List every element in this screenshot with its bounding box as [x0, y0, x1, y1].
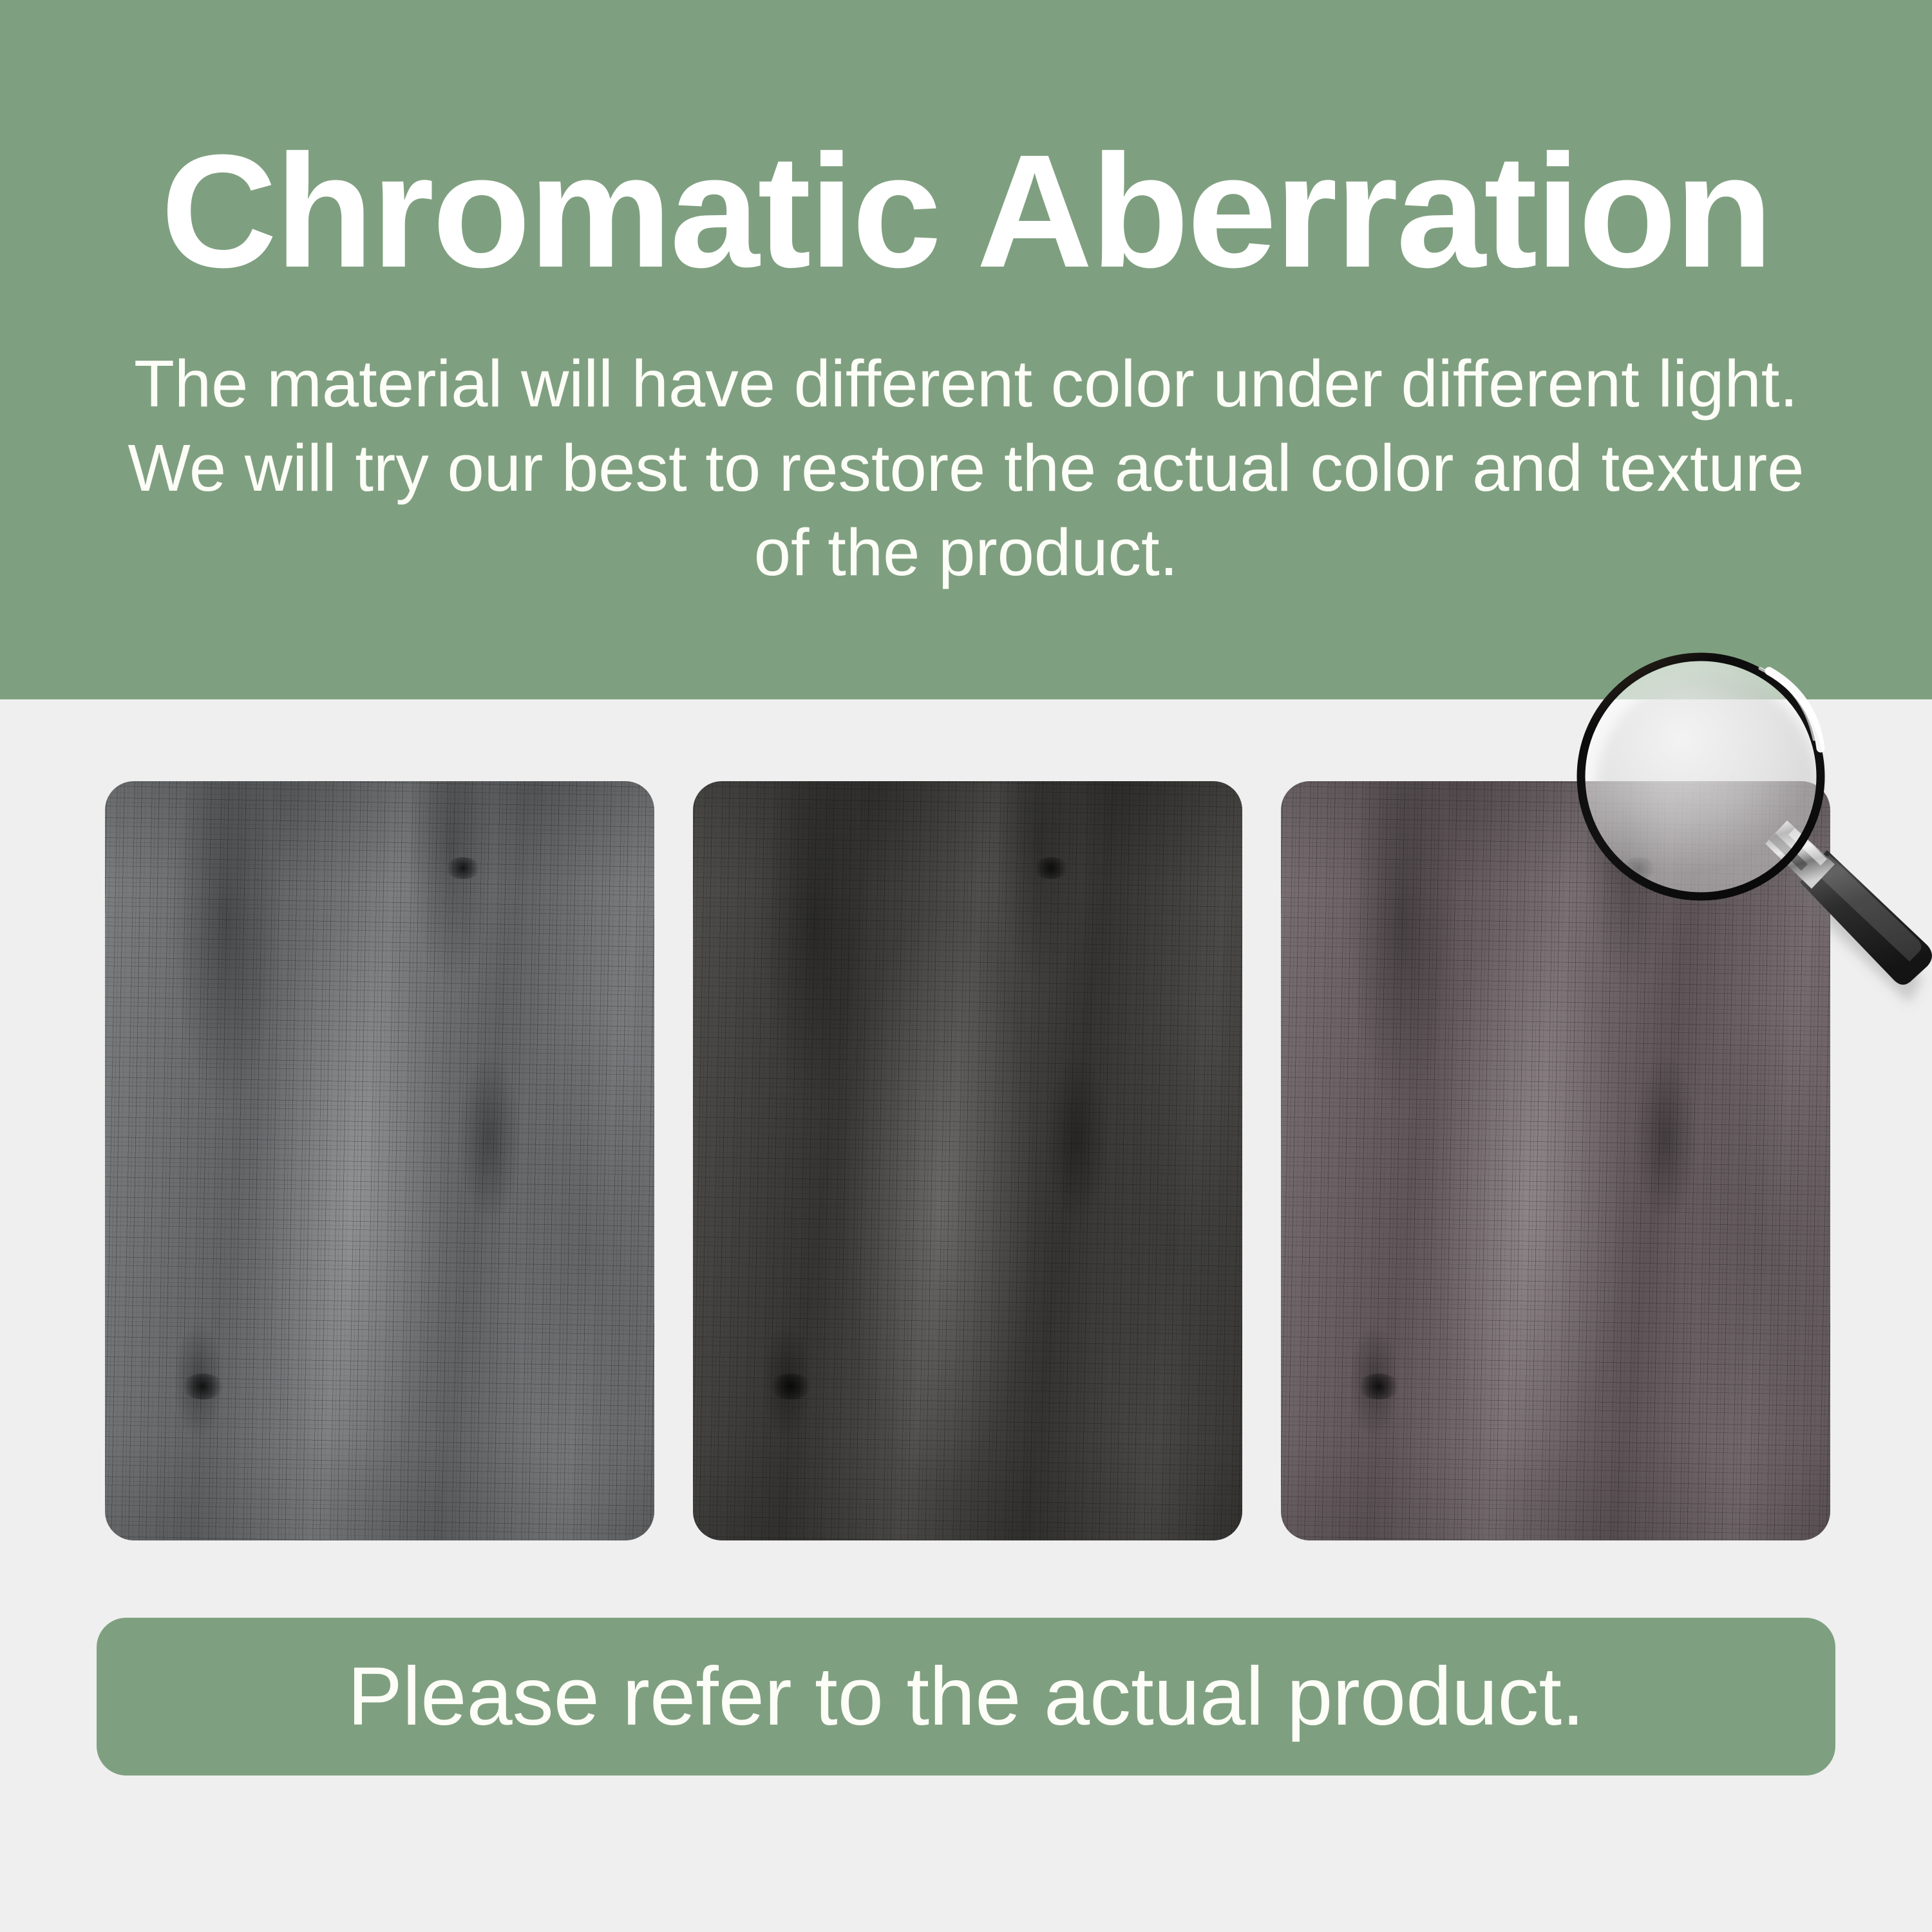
swatch-light-gray-oak[interactable]: [105, 781, 654, 1540]
chromatic-aberration-infographic: Chromatic Aberration The material will h…: [0, 0, 1932, 1932]
swatch-dark-charcoal-oak[interactable]: [693, 781, 1242, 1540]
page-title: Chromatic Aberration: [97, 129, 1835, 293]
footer-banner: Please refer to the actual product.: [97, 1618, 1835, 1776]
wood-texture: [693, 781, 1242, 1540]
wood-texture: [105, 781, 654, 1540]
swatch-warm-gray-oak[interactable]: [1281, 781, 1830, 1540]
footer-banner-text: Please refer to the actual product.: [347, 1655, 1584, 1739]
page-subtitle: The material will have different color u…: [97, 341, 1835, 594]
wood-texture: [1281, 781, 1830, 1540]
header-banner: Chromatic Aberration The material will h…: [0, 0, 1932, 699]
